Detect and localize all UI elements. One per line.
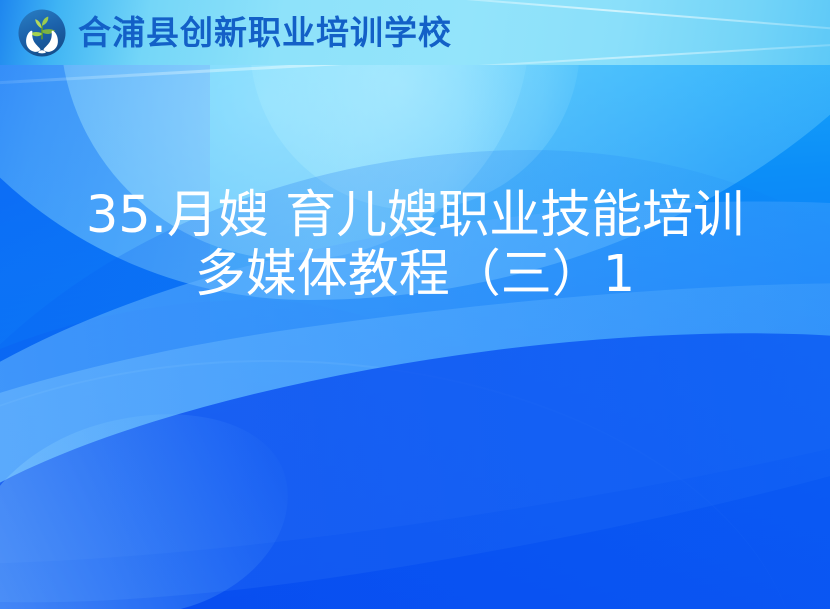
title-line-1: 35.月嫂 育儿嫂职业技能培训 — [0, 186, 830, 245]
hands-holding-sprout-icon — [18, 9, 66, 57]
school-name-text: 合浦县创新职业培训学校 — [78, 16, 452, 49]
title-slide: 合浦县创新职业培训学校 35.月嫂 育儿嫂职业技能培训 多媒体教程（三）1 — [0, 0, 830, 609]
header-bar: 合浦县创新职业培训学校 — [0, 0, 830, 65]
background-left-column — [0, 0, 210, 609]
title-line-2: 多媒体教程（三）1 — [0, 245, 830, 304]
slide-title: 35.月嫂 育儿嫂职业技能培训 多媒体教程（三）1 — [0, 186, 830, 304]
school-logo — [18, 9, 66, 57]
